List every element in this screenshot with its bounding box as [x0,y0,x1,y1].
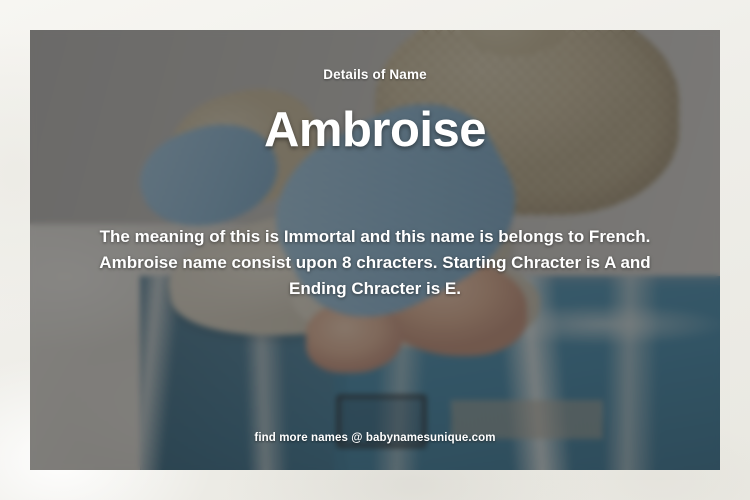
name-detail-card: Details of Name Ambroise The meaning of … [30,30,720,470]
card-kicker: Details of Name [323,67,427,82]
name-description: The meaning of this is Immortal and this… [92,224,658,302]
poster-page: Details of Name Ambroise The meaning of … [0,0,750,500]
footer-attribution: find more names @ babynamesunique.com [30,432,720,444]
card-content: Details of Name Ambroise The meaning of … [30,30,720,470]
page-title: Ambroise [264,106,486,155]
